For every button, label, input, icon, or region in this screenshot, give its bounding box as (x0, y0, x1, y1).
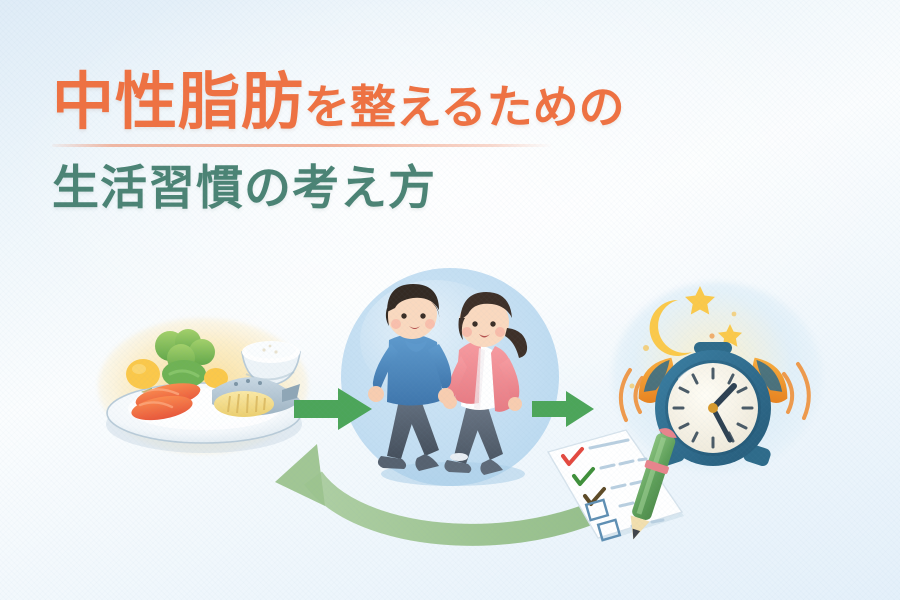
balanced-meal-plate (96, 312, 312, 462)
hour-hand (713, 386, 734, 408)
clock-ticks (674, 369, 752, 447)
habit-checklist (532, 428, 712, 560)
clock-bells (634, 358, 793, 405)
lemon (126, 359, 160, 389)
walking-circle-highlight (360, 280, 510, 400)
walking-couple (355, 276, 551, 492)
title-suffix: を整えるための (304, 81, 625, 133)
grilled-fish (212, 377, 300, 417)
stars (685, 286, 742, 347)
alarm-clock (612, 278, 818, 474)
flow-arrow-2 (532, 390, 594, 428)
infographic-canvas: 中性脂肪を整えるための 生活習慣の考え方 (0, 0, 900, 600)
pencil (622, 428, 681, 543)
minute-hand (713, 408, 730, 440)
page-subtitle: 生活習慣の考え方 (52, 164, 625, 211)
walking-circle-backdrop (341, 268, 559, 486)
cycle-loop-arrow (255, 430, 675, 560)
woman-figure (443, 292, 527, 475)
sausages (130, 378, 203, 424)
rice-bowl (242, 341, 300, 385)
title-divider (52, 144, 552, 147)
man-figure (368, 284, 454, 471)
flow-arrow-1 (294, 386, 372, 432)
broccoli (155, 329, 215, 388)
page-title: 中性脂肪を整えるための (52, 72, 625, 134)
title-emphasis: 中性脂肪 (52, 68, 304, 137)
checklist-rows (563, 440, 663, 540)
crescent-moon (650, 300, 692, 356)
ring-arcs (621, 364, 809, 420)
clock-glow (612, 282, 822, 472)
title-block: 中性脂肪を整えるための 生活習慣の考え方 (52, 72, 625, 211)
food-glow (98, 318, 308, 454)
